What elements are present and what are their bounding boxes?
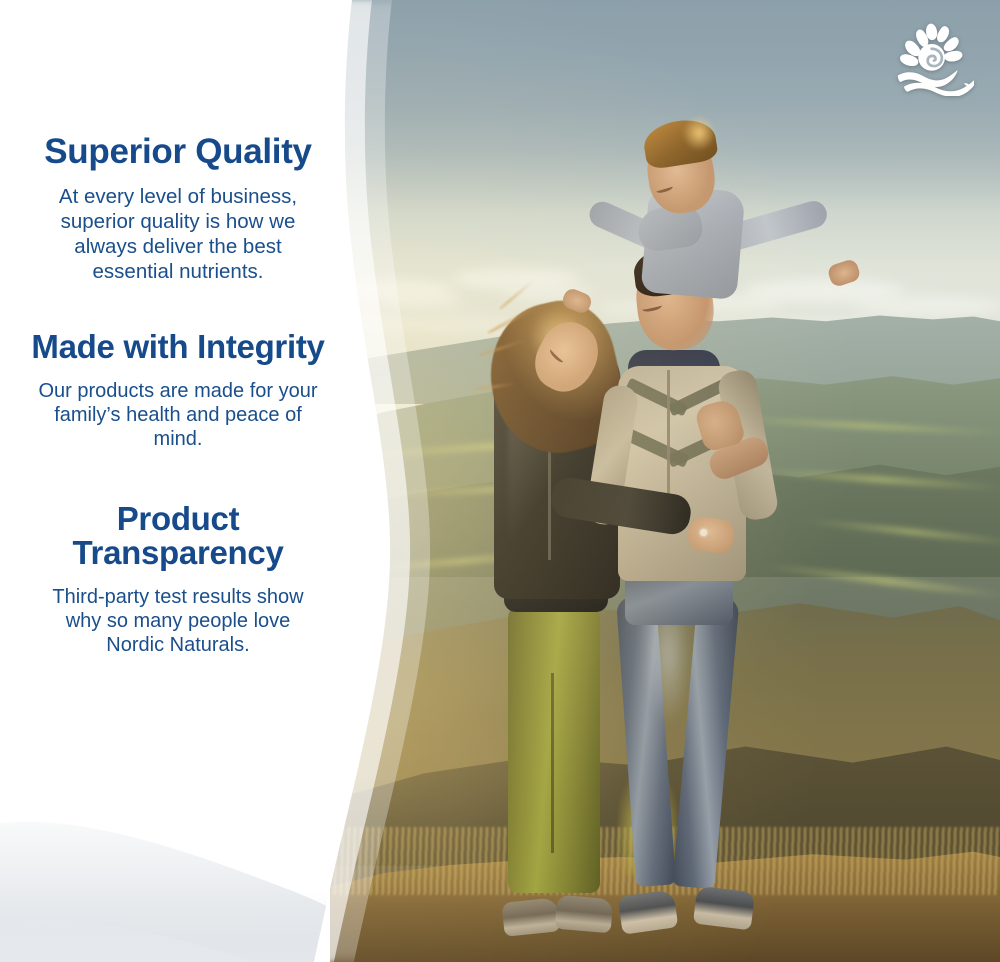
family-hero-photo (330, 0, 1000, 962)
promo-graphic: Superior Quality At every level of busin… (0, 0, 1000, 962)
value-heading: Made with Integrity (28, 330, 328, 364)
value-block-made-with-integrity: Made with Integrity Our products are mad… (28, 330, 328, 451)
value-block-superior-quality: Superior Quality At every level of busin… (28, 134, 328, 284)
value-heading: Superior Quality (28, 134, 328, 170)
nordic-naturals-logo (894, 22, 974, 96)
hair-wisp (499, 279, 536, 311)
mother-legs-seam (551, 673, 554, 853)
value-body: Third-party test results show why so man… (28, 585, 328, 658)
value-props-column: Superior Quality At every level of busin… (28, 0, 328, 962)
value-heading: Product Transparency (28, 502, 328, 571)
family-group (330, 0, 1000, 962)
value-body: Our products are made for your family’s … (28, 379, 328, 452)
father-shoe-right (693, 885, 755, 930)
boy-hand-right (826, 258, 861, 288)
value-block-product-transparency: Product Transparency Third-party test re… (28, 502, 328, 658)
mother-shoe-left (501, 898, 560, 938)
mother-shoe-right (555, 894, 614, 933)
ring (700, 529, 707, 536)
sun-wave-logo-icon (898, 23, 974, 96)
father-shoe-left (618, 889, 679, 934)
value-body: At every level of business, superior qua… (28, 184, 328, 284)
boy-hair-glow (682, 115, 716, 151)
